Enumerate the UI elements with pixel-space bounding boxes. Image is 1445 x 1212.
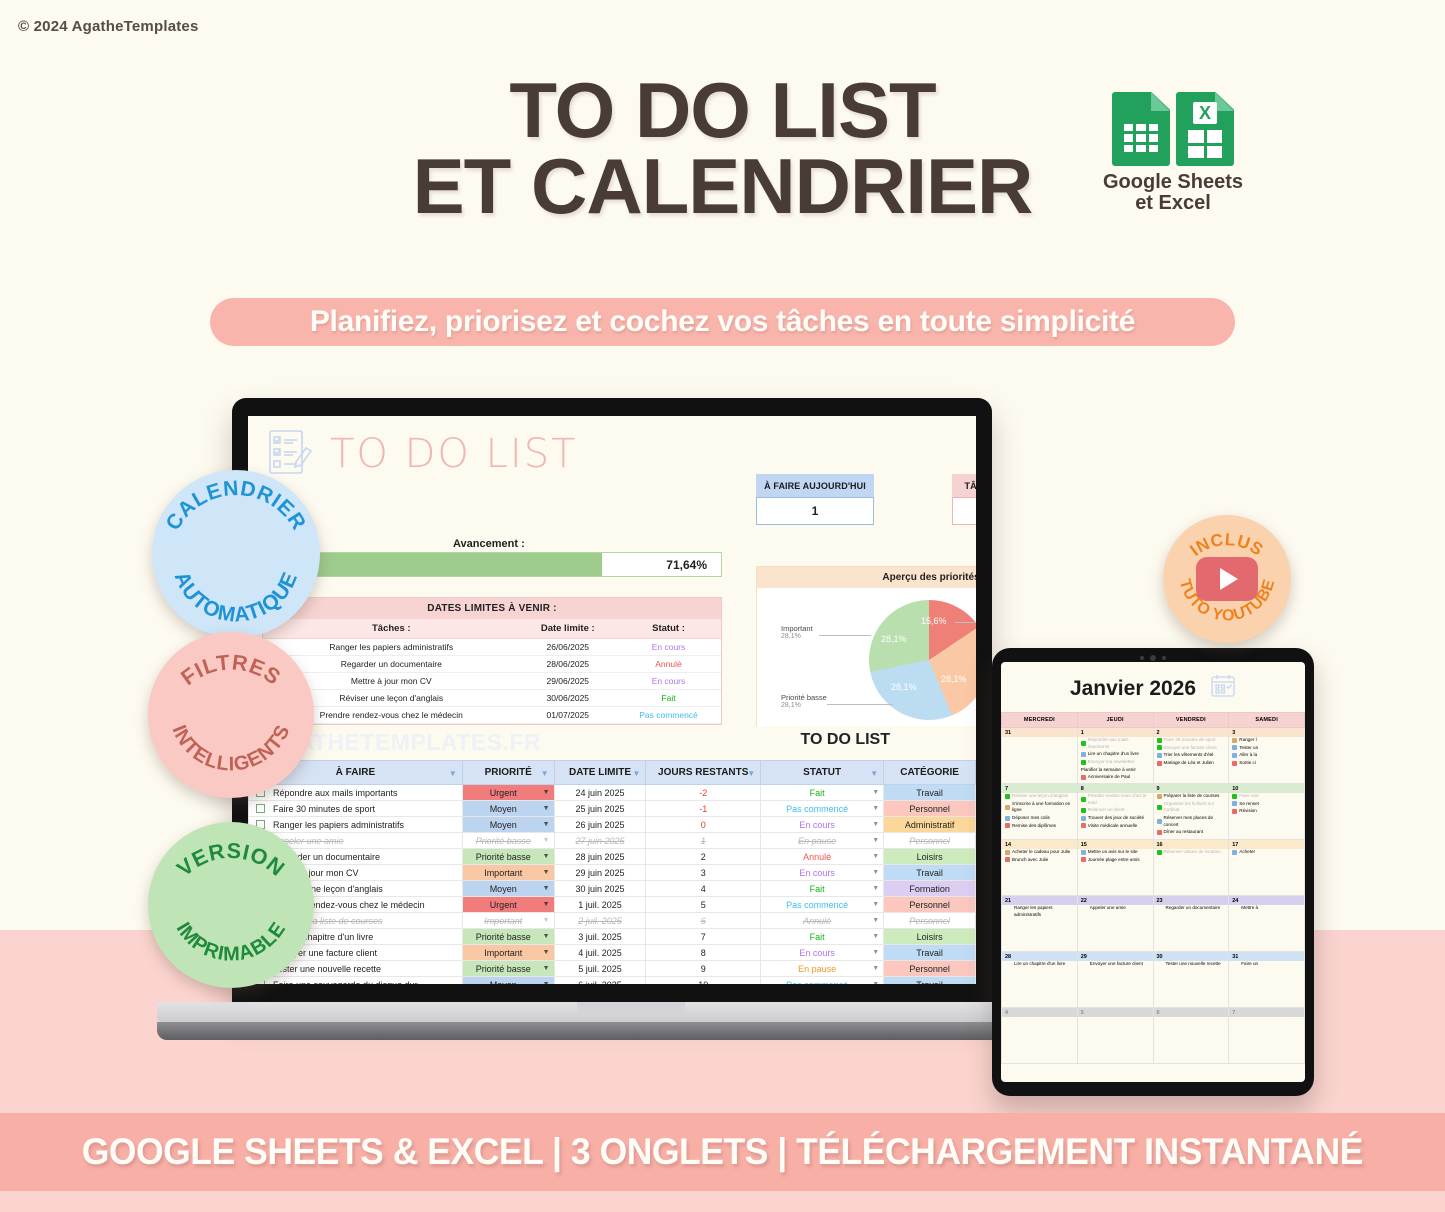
chevron-down-icon[interactable]: ▼ bbox=[543, 965, 550, 972]
col-days-left[interactable]: JOURS RESTANTS▼ bbox=[646, 761, 761, 785]
cell-status[interactable]: Fait▼ bbox=[761, 785, 884, 801]
deadlines-col-date: Date limite : bbox=[520, 619, 616, 639]
event-tr-icon bbox=[1005, 850, 1010, 855]
kpi-card-overdue: TÂCHES EN RETARD 2 bbox=[952, 474, 976, 525]
calendar-event[interactable]: Visite médicale annuelle bbox=[1078, 823, 1153, 831]
calendar-day-cell[interactable]: 24Mettre à bbox=[1229, 896, 1305, 952]
event-label: Acheter le cadeau pour Julie bbox=[1012, 849, 1070, 856]
event-label: Ranger les papiers administratifs bbox=[1014, 905, 1075, 918]
priority-label: Important bbox=[484, 916, 522, 926]
event-cal-icon bbox=[1157, 830, 1162, 835]
table-row[interactable]: Appeler une amiePriorité basse▼27 juin 2… bbox=[249, 833, 976, 849]
cell-status[interactable]: Fait▼ bbox=[761, 881, 884, 897]
table-row[interactable]: Ranger les papiers administratifsMoyen▼2… bbox=[249, 817, 976, 833]
kpi-card-today: À FAIRE AUJOURD'HUI 1 bbox=[756, 474, 874, 525]
chevron-down-icon[interactable]: ▼ bbox=[872, 949, 879, 956]
calendar-day-number: 9 bbox=[1154, 784, 1229, 793]
cell-days-left: 0 bbox=[646, 817, 761, 833]
priority-label: Priorité basse bbox=[476, 932, 531, 942]
deadline-date: 01/07/2025 bbox=[520, 707, 616, 724]
calendar-event[interactable]: Ranger l bbox=[1229, 737, 1304, 745]
calendar-day-number: 14 bbox=[1002, 840, 1077, 849]
calendar-day-number: 22 bbox=[1078, 896, 1153, 905]
calendar-event[interactable]: Réserver voiture de location bbox=[1154, 849, 1229, 857]
chevron-down-icon[interactable]: ▼ bbox=[872, 869, 879, 876]
calendar-day-cell[interactable]: 15Mettre un avis sur le siteJournée plag… bbox=[1077, 840, 1153, 896]
calendar-day-cell[interactable]: 3Ranger lTester unAller à laSortie ci bbox=[1229, 728, 1305, 784]
cell-deadline: 28 juin 2025 bbox=[554, 849, 646, 865]
cell-priority[interactable]: Important▼ bbox=[462, 865, 554, 881]
calendar-event[interactable]: Répondre aux mails importants bbox=[1078, 737, 1153, 751]
priority-label: Important bbox=[484, 948, 522, 958]
col-label: STATUT bbox=[803, 767, 841, 778]
google-sheets-icon bbox=[1112, 92, 1170, 166]
table-row[interactable]: Mettre à jour mon CVImportant▼29 juin 20… bbox=[249, 865, 976, 881]
cell-deadline: 5 juil. 2025 bbox=[554, 961, 646, 977]
filter-icon[interactable]: ▼ bbox=[541, 769, 549, 778]
calendar-day-cell[interactable]: 1Répondre aux mails importantsLire un ch… bbox=[1077, 728, 1153, 784]
deadline-row: Mettre à jour mon CV29/06/2025En cours bbox=[263, 673, 721, 690]
calendar-day-number: 17 bbox=[1229, 840, 1304, 849]
cell-priority[interactable]: Moyen▼ bbox=[462, 817, 554, 833]
sheet-header: TO DO LIST bbox=[248, 416, 976, 480]
calendar-week-row: 21Ranger les papiers administratifs22App… bbox=[1002, 896, 1305, 952]
table-row[interactable]: Lire un chapitre d'un livrePriorité bass… bbox=[249, 929, 976, 945]
cell-category: Administratif bbox=[884, 817, 976, 833]
sticker-curved-text: VERSION IMPRIMABLE bbox=[148, 822, 314, 988]
calendar-day-number: 28 bbox=[1002, 952, 1077, 961]
sheets-excel-badge: X Google Sheets et Excel bbox=[1098, 92, 1248, 214]
col-label: À FAIRE bbox=[336, 767, 375, 778]
cell-priority[interactable]: Urgent▼ bbox=[462, 897, 554, 913]
cell-status[interactable]: En cours▼ bbox=[761, 817, 884, 833]
cell-status[interactable]: Annulé▼ bbox=[761, 849, 884, 865]
calendar-event[interactable]: Tester une nouvelle recette bbox=[1154, 961, 1229, 969]
calendar-event[interactable]: Déposer mes colis bbox=[1002, 815, 1077, 823]
sticker-inclus-tuto-youtube: INCLUS TUTO YOUTUBE bbox=[1163, 515, 1291, 643]
cell-category: Personnel bbox=[884, 801, 976, 817]
status-label: Pas commencé bbox=[786, 900, 848, 910]
status-label: Fait bbox=[810, 932, 825, 942]
cell-deadline: 3 juil. 2025 bbox=[554, 929, 646, 945]
tablet-screen-content: Janvier 2026 MERCREDI JEUDI VENDREDI SAM… bbox=[1001, 662, 1305, 1082]
calendar-event[interactable]: Réserver mes places de concert bbox=[1154, 815, 1229, 829]
chevron-down-icon[interactable]: ▼ bbox=[872, 789, 879, 796]
chevron-down-icon[interactable]: ▼ bbox=[872, 821, 879, 828]
calendar-day-cell[interactable]: 4 bbox=[1002, 1008, 1078, 1064]
chevron-down-icon[interactable]: ▼ bbox=[872, 837, 879, 844]
chart-title: Aperçu des priorités bbox=[757, 567, 976, 588]
calendar-event[interactable]: Relancer un client bbox=[1078, 807, 1153, 815]
calendar-event[interactable]: Acheter bbox=[1229, 849, 1304, 857]
calendar-day-number: 5 bbox=[1078, 1008, 1153, 1017]
calendar-event[interactable]: Envoyer une facture client bbox=[1154, 745, 1229, 753]
calendar-event[interactable]: Trouver des jeux de société bbox=[1078, 815, 1153, 823]
table-row[interactable]: Faire une sauvegarde du disque durMoyen▼… bbox=[249, 977, 976, 985]
event-label: Trier les vêtements d'été bbox=[1164, 752, 1214, 759]
cell-status[interactable]: Annulé▼ bbox=[761, 913, 884, 929]
cell-status[interactable]: Pas commencé▼ bbox=[761, 801, 884, 817]
cell-task[interactable]: Faire 30 minutes de sport bbox=[249, 801, 463, 817]
calendar-event[interactable]: Aller à la bbox=[1229, 752, 1304, 760]
col-status[interactable]: STATUT▼ bbox=[761, 761, 884, 785]
calendar-event[interactable]: Anniversaire de Paul bbox=[1078, 774, 1153, 782]
deadline-row: Ranger les papiers administratifs26/06/2… bbox=[263, 639, 721, 656]
sheets-excel-label: Google Sheets et Excel bbox=[1098, 172, 1248, 214]
col-deadline[interactable]: DATE LIMITE▼ bbox=[554, 761, 646, 785]
cell-days-left: 5 bbox=[646, 897, 761, 913]
cell-priority[interactable]: Priorité basse▼ bbox=[462, 833, 554, 849]
youtube-play-icon bbox=[1196, 557, 1258, 601]
event-cal-icon bbox=[1081, 823, 1086, 828]
calendar-event[interactable]: Mettre à bbox=[1229, 905, 1304, 913]
event-bk-icon bbox=[1232, 801, 1237, 806]
chevron-down-icon[interactable]: ▼ bbox=[872, 901, 879, 908]
calendar-day-cell[interactable]: 22Appeler une amie bbox=[1077, 896, 1153, 952]
event-ck-icon bbox=[1232, 794, 1237, 799]
cell-deadline: 24 juin 2025 bbox=[554, 785, 646, 801]
cell-priority[interactable]: Priorité basse▼ bbox=[462, 929, 554, 945]
cell-category: Loisirs bbox=[884, 849, 976, 865]
kpi-cards: À FAIRE AUJOURD'HUI 1 TÂCHES EN RETARD 2… bbox=[756, 474, 976, 525]
sticker-curved-text: FILTRES INTELLIGENTS bbox=[148, 632, 314, 798]
calendar-event[interactable]: Journée plage entre amis bbox=[1078, 857, 1153, 865]
chevron-down-icon[interactable]: ▼ bbox=[543, 821, 550, 828]
chevron-down-icon[interactable]: ▼ bbox=[543, 917, 550, 924]
chevron-down-icon[interactable]: ▼ bbox=[543, 885, 550, 892]
status-label: Pas commencé bbox=[786, 980, 848, 985]
cell-days-left: 3 bbox=[646, 865, 761, 881]
calendar-day-cell[interactable]: 17Acheter bbox=[1229, 840, 1305, 896]
calendar-event[interactable]: Remise des diplômes bbox=[1002, 823, 1077, 831]
chevron-down-icon[interactable]: ▼ bbox=[872, 805, 879, 812]
calendar-day-number: 10 bbox=[1229, 784, 1304, 793]
calendar-day-cell[interactable]: 28Lire un chapitre d'un livre bbox=[1002, 952, 1078, 1008]
chevron-down-icon[interactable]: ▼ bbox=[543, 805, 550, 812]
event-label: Ranger l bbox=[1239, 737, 1256, 744]
chevron-down-icon[interactable]: ▼ bbox=[543, 869, 550, 876]
calendar-event[interactable]: Faire une bbox=[1229, 793, 1304, 801]
deadlines-header-row: Tâches : Date limite : Statut : bbox=[263, 619, 721, 639]
cell-priority[interactable]: Priorité basse▼ bbox=[462, 961, 554, 977]
calendar-day-cell[interactable]: 16Réserver voiture de location bbox=[1153, 840, 1229, 896]
chevron-down-icon[interactable]: ▼ bbox=[872, 853, 879, 860]
deadline-status: Annulé bbox=[616, 656, 721, 673]
progress-label: Avancement : bbox=[453, 538, 525, 550]
table-row[interactable]: Préparer la liste de coursesImportant▼2 … bbox=[249, 913, 976, 929]
calendar-event[interactable]: Sortie ci bbox=[1229, 760, 1304, 768]
cell-category: Personnel bbox=[884, 913, 976, 929]
weekday-vendredi: VENDREDI bbox=[1153, 713, 1229, 728]
cell-priority[interactable]: Important▼ bbox=[462, 945, 554, 961]
filter-icon[interactable]: ▼ bbox=[632, 769, 640, 778]
table-row[interactable]: Envoyer une facture clientImportant▼4 ju… bbox=[249, 945, 976, 961]
event-bk-icon bbox=[1232, 745, 1237, 750]
calendar-body: 311Répondre aux mails importantsLire un … bbox=[1002, 728, 1305, 1064]
calendar-day-cell[interactable]: 23Regarder un documentaire bbox=[1153, 896, 1229, 952]
calendar-day-cell[interactable]: 14Acheter le cadeau pour JulieBrunch ave… bbox=[1002, 840, 1078, 896]
calendar-day-cell[interactable]: 8Prendre rendez-vous chez le médRelancer… bbox=[1077, 784, 1153, 840]
calendar-event[interactable]: Faire 30 minutes de sport bbox=[1154, 737, 1229, 745]
calendar-week-row: 311Répondre aux mails importantsLire un … bbox=[1002, 728, 1305, 784]
event-label: S'inscrire à une formation en ligne bbox=[1012, 801, 1075, 814]
event-label: Prendre rendez-vous chez le méd bbox=[1088, 793, 1151, 806]
calendar-event[interactable]: Faire un bbox=[1229, 961, 1304, 969]
chevron-down-icon[interactable]: ▼ bbox=[872, 981, 879, 984]
priority-label: Priorité basse bbox=[476, 964, 531, 974]
event-label: Acheter bbox=[1239, 849, 1255, 856]
event-cal-icon bbox=[1005, 857, 1010, 862]
calendar-event[interactable]: Mettre un avis sur le site bbox=[1078, 849, 1153, 857]
sticker-bottom-text: IMPRIMABLE bbox=[172, 918, 291, 966]
cell-priority[interactable]: Important▼ bbox=[462, 913, 554, 929]
chevron-down-icon[interactable]: ▼ bbox=[543, 949, 550, 956]
cell-category: Travail bbox=[884, 865, 976, 881]
calendar-day-number: 24 bbox=[1229, 896, 1304, 905]
calendar-grid: MERCREDI JEUDI VENDREDI SAMEDI 311Répond… bbox=[1001, 712, 1305, 1064]
calendar-week-row: 28Lire un chapitre d'un livre29Envoyer u… bbox=[1002, 952, 1305, 1008]
deadlines-body: Ranger les papiers administratifs26/06/2… bbox=[263, 639, 721, 724]
event-label: Lire un chapitre d'un livre bbox=[1088, 751, 1139, 758]
col-category[interactable]: CATÉGORIE bbox=[884, 761, 976, 785]
cell-status[interactable]: En cours▼ bbox=[761, 865, 884, 881]
calendar-event[interactable]: Dîner au restaurant bbox=[1154, 829, 1229, 837]
table-row[interactable]: Réviser une leçon d'anglaisMoyen▼30 juin… bbox=[249, 881, 976, 897]
footer-banner: GOOGLE SHEETS & EXCEL | 3 ONGLETS | TÉLÉ… bbox=[0, 1113, 1445, 1191]
status-label: Annulé bbox=[803, 916, 831, 926]
calendar-event[interactable]: Tester un bbox=[1229, 745, 1304, 753]
cell-days-left: 8 bbox=[646, 945, 761, 961]
cell-category: Travail bbox=[884, 977, 976, 985]
calendar-day-cell[interactable]: 6 bbox=[1153, 1008, 1229, 1064]
priority-label: Moyen bbox=[490, 884, 517, 894]
chevron-down-icon[interactable]: ▼ bbox=[872, 933, 879, 940]
pie-slice-label-basse: 28,1% bbox=[891, 682, 917, 692]
excel-x-letter: X bbox=[1193, 102, 1217, 124]
cell-status[interactable]: Fait▼ bbox=[761, 929, 884, 945]
calendar-event[interactable]: Se renset bbox=[1229, 801, 1304, 809]
table-row[interactable]: Prendre rendez-vous chez le médecinUrgen… bbox=[249, 897, 976, 913]
calendar-event[interactable]: Envoyer ma newsletter bbox=[1078, 759, 1153, 767]
calendar-day-cell[interactable]: 31 bbox=[1002, 728, 1078, 784]
calendar-event[interactable]: Lire un chapitre d'un livre bbox=[1002, 961, 1077, 969]
calendar-event[interactable]: Ranger les papiers administratifs bbox=[1002, 905, 1077, 919]
calendar-day-number: 31 bbox=[1229, 952, 1304, 961]
event-label: Préparer la liste de courses bbox=[1164, 793, 1220, 800]
cell-deadline: 26 juin 2025 bbox=[554, 817, 646, 833]
cell-status[interactable]: Pas commencé▼ bbox=[761, 897, 884, 913]
cell-priority[interactable]: Priorité basse▼ bbox=[462, 849, 554, 865]
calendar-day-cell[interactable]: 7Réviser une leçon d'anglaisS'inscrire à… bbox=[1002, 784, 1078, 840]
calendar-day-cell[interactable]: 29Envoyer une facture client bbox=[1077, 952, 1153, 1008]
deadline-status: En cours bbox=[616, 639, 721, 656]
callout-value: 28,1% bbox=[781, 702, 801, 709]
svg-text:INTELLIGENTS: INTELLIGENTS bbox=[167, 721, 294, 775]
priority-label: Moyen bbox=[490, 820, 517, 830]
status-label: Pas commencé bbox=[786, 804, 848, 814]
calendar-event[interactable]: Préparer la liste de courses bbox=[1154, 793, 1229, 801]
cell-status[interactable]: En pause▼ bbox=[761, 833, 884, 849]
event-label: Mettre à bbox=[1241, 905, 1258, 912]
chart-callout-basse: Priorité basse 28,1% bbox=[781, 693, 827, 711]
calendar-day-cell[interactable]: 31Faire un bbox=[1229, 952, 1305, 1008]
calendar-event[interactable]: Acheter le cadeau pour Julie bbox=[1002, 849, 1077, 857]
cell-days-left: 2 bbox=[646, 849, 761, 865]
event-label: Anniversaire de Paul bbox=[1088, 774, 1130, 781]
deadline-status: Fait bbox=[616, 690, 721, 707]
chevron-down-icon[interactable]: ▼ bbox=[543, 789, 550, 796]
cell-status[interactable]: En pause▼ bbox=[761, 961, 884, 977]
excel-icon: X bbox=[1176, 92, 1234, 166]
calendar-event[interactable]: S'inscrire à une formation en ligne bbox=[1002, 801, 1077, 815]
chevron-down-icon[interactable]: ▼ bbox=[543, 981, 550, 984]
cell-deadline: 29 juin 2025 bbox=[554, 865, 646, 881]
calendar-event[interactable]: Mariage de Léa et Julien bbox=[1154, 760, 1229, 768]
cell-deadline: 30 juin 2025 bbox=[554, 881, 646, 897]
calendar-day-number: 6 bbox=[1154, 1008, 1229, 1017]
cell-days-left: -1 bbox=[646, 801, 761, 817]
col-priority[interactable]: PRIORITÉ▼ bbox=[462, 761, 554, 785]
calendar-day-cell[interactable]: 2Faire 30 minutes de sportEnvoyer une fa… bbox=[1153, 728, 1229, 784]
event-label: Aller à la bbox=[1239, 752, 1257, 759]
calendar-event[interactable]: Réviser une leçon d'anglais bbox=[1002, 793, 1077, 801]
event-label: Envoyer une facture client bbox=[1090, 961, 1143, 968]
event-bk-icon bbox=[1157, 753, 1162, 758]
cell-status[interactable]: En cours▼ bbox=[761, 945, 884, 961]
calendar-event[interactable]: Trier les vêtements d'été bbox=[1154, 752, 1229, 760]
sticker-calendrier-automatique: CALENDRIER AUTOMATIQUE bbox=[152, 470, 320, 638]
chevron-down-icon[interactable]: ▼ bbox=[872, 917, 879, 924]
status-label: Annulé bbox=[803, 852, 831, 862]
calendar-event[interactable]: Appeler une amie bbox=[1078, 905, 1153, 913]
pie-slice-label-green: 28,1% bbox=[881, 634, 907, 644]
status-label: En cours bbox=[799, 868, 835, 878]
cell-deadline: 27 juin 2025 bbox=[554, 833, 646, 849]
calendar-day-cell[interactable]: 10Faire uneSe rensetRévision bbox=[1229, 784, 1305, 840]
calendar-event[interactable]: Brunch avec Julie bbox=[1002, 857, 1077, 865]
calendar-week-row: 7Réviser une leçon d'anglaisS'inscrire à… bbox=[1002, 784, 1305, 840]
deadline-date: 29/06/2025 bbox=[520, 673, 616, 690]
deadlines-title: DATES LIMITES À VENIR : bbox=[263, 598, 721, 619]
calendar-day-cell[interactable]: 5 bbox=[1077, 1008, 1153, 1064]
weekday-samedi: SAMEDI bbox=[1229, 713, 1305, 728]
filter-icon[interactable]: ▼ bbox=[747, 769, 755, 778]
chevron-down-icon[interactable]: ▼ bbox=[543, 901, 550, 908]
calendar-day-cell[interactable]: 9Préparer la liste de coursesOrganiser l… bbox=[1153, 784, 1229, 840]
sticker-top-text: FILTRES bbox=[176, 649, 286, 690]
event-label: Regarder un documentaire bbox=[1166, 905, 1221, 912]
cell-days-left: 7 bbox=[646, 929, 761, 945]
calendar-event[interactable]: Envoyer une facture client bbox=[1078, 961, 1153, 969]
cell-priority[interactable]: Moyen▼ bbox=[462, 881, 554, 897]
chevron-down-icon[interactable]: ▼ bbox=[872, 885, 879, 892]
event-bk-icon bbox=[1081, 816, 1086, 821]
sheets-excel-icons: X bbox=[1098, 92, 1248, 166]
chevron-down-icon[interactable]: ▼ bbox=[543, 933, 550, 940]
calendar-week-row: 4567 bbox=[1002, 1008, 1305, 1064]
event-bk-icon bbox=[1232, 850, 1237, 855]
event-label: Tester une nouvelle recette bbox=[1166, 961, 1221, 968]
calendar-event[interactable]: Lire un chapitre d'un livre bbox=[1078, 751, 1153, 759]
chevron-down-icon[interactable]: ▼ bbox=[872, 965, 879, 972]
cell-deadline: 1 juil. 2025 bbox=[554, 897, 646, 913]
cell-status[interactable]: Pas commencé▼ bbox=[761, 977, 884, 985]
cell-priority[interactable]: Moyen▼ bbox=[462, 801, 554, 817]
calendar-day-number: 7 bbox=[1229, 1008, 1304, 1017]
filter-icon[interactable]: ▼ bbox=[870, 769, 878, 778]
table-row[interactable]: Regarder un documentairePriorité basse▼2… bbox=[249, 849, 976, 865]
table-row[interactable]: Faire 30 minutes de sportMoyen▼25 juin 2… bbox=[249, 801, 976, 817]
event-label: Trouver des jeux de société bbox=[1088, 815, 1144, 822]
event-label: Dîner au restaurant bbox=[1164, 829, 1204, 836]
event-cal-icon bbox=[1005, 823, 1010, 828]
calendar-event[interactable]: Prendre rendez-vous chez le méd bbox=[1078, 793, 1153, 807]
event-cal-icon bbox=[1232, 809, 1237, 814]
calendar-day-cell[interactable]: 21Ranger les papiers administratifs bbox=[1002, 896, 1078, 952]
deadline-row: Réviser une leçon d'anglais30/06/2025Fai… bbox=[263, 690, 721, 707]
filter-icon[interactable]: ▼ bbox=[449, 769, 457, 778]
event-ck-icon bbox=[1081, 741, 1086, 746]
footer-text: GOOGLE SHEETS & EXCEL | 3 ONGLETS | TÉLÉ… bbox=[82, 1131, 1363, 1173]
event-label: Journée plage entre amis bbox=[1088, 857, 1140, 864]
priority-label: Moyen bbox=[490, 804, 517, 814]
weekday-jeudi: JEUDI bbox=[1077, 713, 1153, 728]
calendar-day-number: 1 bbox=[1078, 728, 1153, 737]
cell-priority[interactable]: Moyen▼ bbox=[462, 977, 554, 985]
spreadsheet-todo-tab: TO DO LIST À FAIRE AUJOURD'HUI 1 TÂCHES … bbox=[248, 416, 976, 984]
event-label: Répondre aux mails importants bbox=[1088, 737, 1151, 750]
cell-priority[interactable]: Urgent▼ bbox=[462, 785, 554, 801]
task-table-body: Répondre aux mails importantsUrgent▼24 j… bbox=[249, 785, 976, 985]
callout-name: Priorité basse bbox=[781, 693, 827, 702]
priority-label: Moyen bbox=[490, 980, 517, 985]
col-label: DATE LIMITE bbox=[569, 767, 631, 778]
calendar-event[interactable]: Regarder un documentaire bbox=[1154, 905, 1229, 913]
priority-label: Important bbox=[484, 868, 522, 878]
cell-deadline: 25 juin 2025 bbox=[554, 801, 646, 817]
event-ck-icon bbox=[1157, 738, 1162, 743]
calendar-event[interactable]: Révision bbox=[1229, 808, 1304, 816]
cell-category: Travail bbox=[884, 945, 976, 961]
task-checkbox[interactable] bbox=[256, 804, 265, 813]
event-label: Réserver mes places de concert bbox=[1164, 815, 1227, 828]
priority-label: Priorité basse bbox=[476, 836, 531, 846]
pie-slice-label-urgent: 15,6% bbox=[921, 616, 947, 626]
deadline-row: Prendre rendez-vous chez le médecin01/07… bbox=[263, 707, 721, 724]
calendar-event[interactable]: Planifier la semaine à venir bbox=[1078, 767, 1153, 775]
cell-days-left: 4 bbox=[646, 881, 761, 897]
deadline-date: 30/06/2025 bbox=[520, 690, 616, 707]
calendar-day-number: 16 bbox=[1154, 840, 1229, 849]
laptop-base-front bbox=[157, 1022, 1067, 1040]
cell-deadline: 2 juil. 2025 bbox=[554, 913, 646, 929]
watermark-band: AGATHETEMPLATES.FR TO DO LIST bbox=[248, 726, 976, 758]
chevron-down-icon[interactable]: ▼ bbox=[543, 837, 550, 844]
event-tr-icon bbox=[1157, 794, 1162, 799]
calendar-event[interactable]: Organiser les fichiers sur l'ordinat bbox=[1154, 801, 1229, 815]
calendar-month-title: Janvier 2026 bbox=[1070, 677, 1196, 701]
table-row[interactable]: Répondre aux mails importantsUrgent▼24 j… bbox=[249, 785, 976, 801]
cell-category: Personnel bbox=[884, 961, 976, 977]
table-row[interactable]: Tester une nouvelle recettePriorité bass… bbox=[249, 961, 976, 977]
calendar-day-number: 3 bbox=[1229, 728, 1304, 737]
calendar-day-cell[interactable]: 30Tester une nouvelle recette bbox=[1153, 952, 1229, 1008]
cell-deadline: 4 juil. 2025 bbox=[554, 945, 646, 961]
calendar-day-cell[interactable]: 7 bbox=[1229, 1008, 1305, 1064]
priorities-chart-card: Aperçu des priorités 28,1% 15,6% 28,1% 2… bbox=[756, 566, 976, 731]
chevron-down-icon[interactable]: ▼ bbox=[543, 853, 550, 860]
calendar-day-number: 7 bbox=[1002, 784, 1077, 793]
